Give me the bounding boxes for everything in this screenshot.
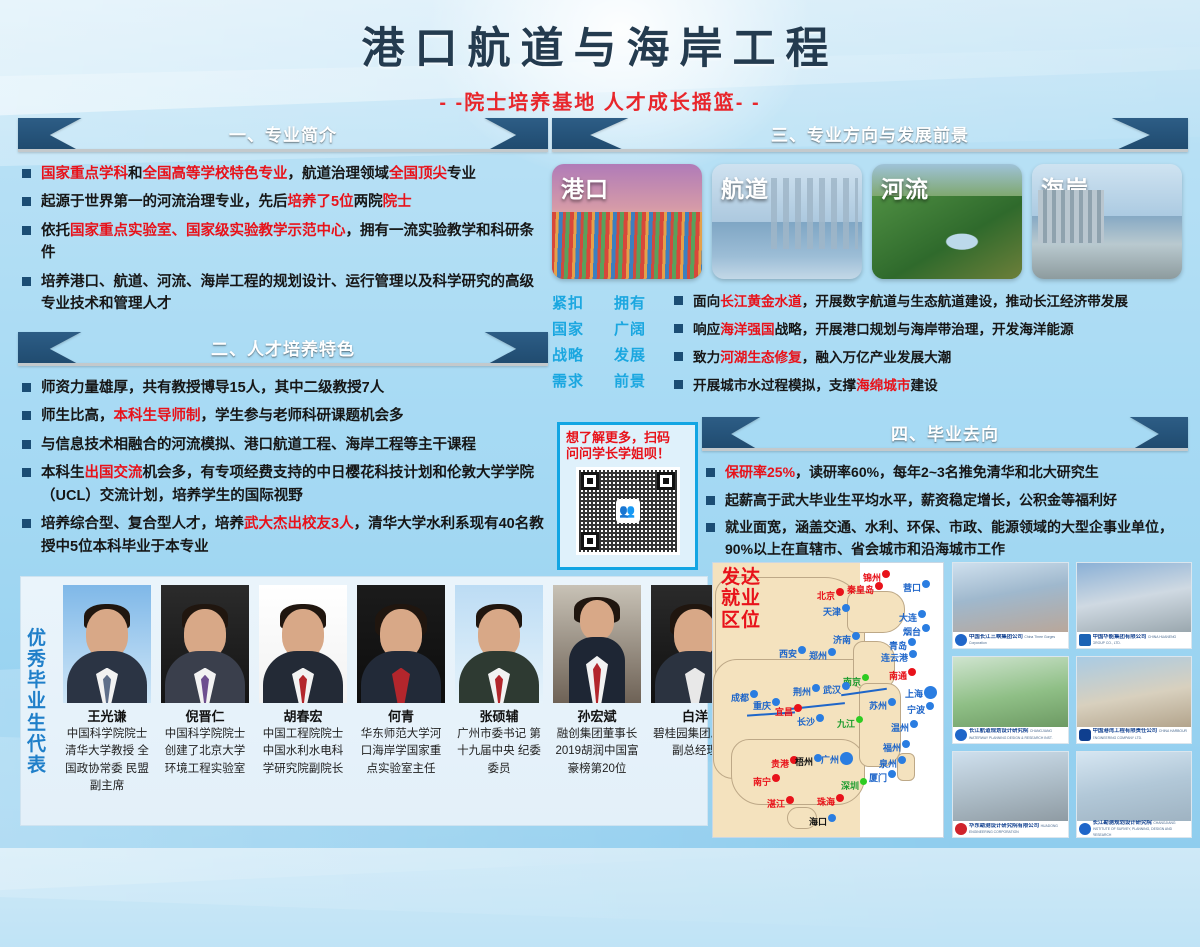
employer-card: 长江航道规划设计研究院 CHANGJIANG WATERWAY PLANNING… — [952, 656, 1069, 743]
square-bullet-icon — [22, 226, 31, 235]
list-item: 就业面宽，涵盖交通、水利、环保、市政、能源领域的大型企事业单位，90%以上在直辖… — [702, 517, 1188, 560]
map-city-dot — [860, 778, 867, 785]
alumnus-name: 孙宏斌 — [551, 706, 643, 725]
bullet-text: 起源于世界第一的河流治理专业，先后培养了5位两院院士 — [41, 191, 412, 213]
square-bullet-icon — [22, 468, 31, 477]
map-city-label: 九江 — [837, 717, 855, 730]
map-city-label: 广州 — [821, 753, 839, 766]
qr-finder-icon — [657, 472, 675, 490]
section-3: 三、专业方向与发展前景 港口 航道 河流 海岸 — [552, 118, 1188, 401]
square-bullet-icon — [22, 411, 31, 420]
qr-avatar-icon: 👥 — [616, 499, 640, 523]
list-item: 面向长江黄金水道，开展数字航道与生态航道建设，推动长江经济带发展 — [670, 289, 1188, 315]
map-city-label: 上海 — [905, 687, 923, 700]
map-city-label: 梧州 — [795, 755, 813, 768]
employment-map: 发达 就业 区位 锦州营口北京秦皇岛天津大连烟台济南青岛西安郑州连云港南通南京武… — [712, 562, 944, 838]
employer-photo — [953, 657, 1068, 726]
map-city-label: 营口 — [903, 581, 921, 594]
keyword-left: 需求 — [552, 370, 594, 391]
employer-name: 中国长江三峡集团公司 China Three Gorges Corporatio… — [969, 634, 1066, 646]
employer-card: 中国华能集团有限公司 CHINA HUANENG GROUP CO., LTD. — [1076, 562, 1193, 649]
avatar — [455, 585, 543, 703]
map-city-label: 温州 — [891, 721, 909, 734]
employer-logo-bar: 华东勘测设计研究院有限公司 HUADONG ENGINEERING CORPOR… — [953, 821, 1068, 837]
map-city-dot — [924, 686, 937, 699]
employer-photo — [1077, 752, 1192, 821]
keyword-row: 紧扣 拥有 — [552, 289, 670, 315]
alumnus-name: 王光谦 — [61, 706, 153, 725]
employer-card: 华东勘测设计研究院有限公司 HUADONG ENGINEERING CORPOR… — [952, 751, 1069, 838]
square-bullet-icon — [674, 352, 683, 361]
list-item: 开展城市水过程模拟，支撑海绵城市建设 — [670, 373, 1188, 399]
bullet-text: 与信息技术相融合的河流模拟、港口航道工程、海岸工程等主干课程 — [41, 434, 476, 456]
bullet-text: 致力河湖生态修复，融入万亿产业发展大潮 — [693, 345, 951, 371]
section-3-body: 紧扣 拥有 国家 广阔 战略 发展 需求 前景 — [552, 289, 1188, 401]
qr-promo-box[interactable]: 想了解更多，扫码 问问学长学姐呗！ 👥 — [557, 422, 698, 570]
alumnus-name: 倪晋仁 — [159, 706, 251, 725]
list-item: 孙宏斌 融创集团董事长 2019胡润中国富 豪榜第20位 — [551, 585, 643, 819]
map-city-label: 珠海 — [817, 795, 835, 808]
bullet-text: 开展城市水过程模拟，支撑海绵城市建设 — [693, 373, 938, 399]
section-2-title: 二、人才培养特色 — [18, 332, 548, 366]
keyword-right: 拥有 — [614, 292, 656, 313]
map-city-label: 济南 — [833, 633, 851, 646]
square-bullet-icon — [706, 523, 715, 532]
list-item: 师资力量雄厚，共有教授博导15人，其中二级教授7人 — [18, 377, 548, 399]
employer-name: 中国港湾工程有限责任公司 CHINA HARBOUR ENGINEERING C… — [1093, 728, 1190, 740]
section-3-banner: 三、专业方向与发展前景 — [552, 118, 1188, 152]
map-city-dot — [856, 716, 863, 723]
qr-code[interactable]: 👥 — [576, 467, 680, 555]
direction-card-waterway: 航道 — [712, 164, 862, 279]
map-city-dot — [888, 770, 896, 778]
map-city-label: 郑州 — [809, 649, 827, 662]
square-bullet-icon — [22, 383, 31, 392]
alumnus-desc: 中国科学院院士 清华大学教授 全国政协常委 民盟副主席 — [61, 726, 153, 795]
square-bullet-icon — [22, 197, 31, 206]
section-3-title: 三、专业方向与发展前景 — [552, 118, 1188, 152]
map-city-dot — [794, 704, 802, 712]
bullet-text: 本科生出国交流机会多，有专项经费支持的中日樱花科技计划和伦敦大学学院（UCL）交… — [41, 462, 548, 507]
section-4-banner: 四、毕业去向 — [702, 417, 1188, 451]
map-title-line-3: 区位 — [721, 610, 761, 631]
photo-river — [712, 222, 862, 280]
alumnus-name: 胡春宏 — [257, 706, 349, 725]
map-city-label: 福州 — [883, 741, 901, 754]
keyword-row: 国家 广阔 — [552, 315, 670, 341]
page-subtitle: - -院士培养基地 人才成长摇篮- - — [0, 86, 1200, 115]
map-city-dot — [910, 720, 918, 728]
bullet-text: 保研率25%，读研率60%，每年2~3名推免清华和北大研究生 — [725, 462, 1099, 484]
map-city-label: 南通 — [889, 669, 907, 682]
section-4-bullets: 保研率25%，读研率60%，每年2~3名推免清华和北大研究生 起薪高于武大毕业生… — [702, 462, 1188, 561]
list-item: 本科生出国交流机会多，有专项经费支持的中日樱花科技计划和伦敦大学学院（UCL）交… — [18, 462, 548, 507]
employer-logo-bar: 中国华能集团有限公司 CHINA HUANENG GROUP CO., LTD. — [1077, 632, 1192, 648]
square-bullet-icon — [674, 324, 683, 333]
page-title: 港口航道与海岸工程 — [0, 14, 1200, 76]
employer-logo-bar: 中国长江三峡集团公司 China Three Gorges Corporatio… — [953, 632, 1068, 648]
map-city-label: 海口 — [809, 815, 827, 828]
map-city-dot — [798, 646, 806, 654]
bullet-text: 国家重点学科和全国高等学校特色专业，航道治理领域全国顶尖专业 — [41, 163, 476, 185]
employer-card: 中国港湾工程有限责任公司 CHINA HARBOUR ENGINEERING C… — [1076, 656, 1193, 743]
direction-card-coast: 海岸 — [1032, 164, 1182, 279]
cisrp-logo-icon — [1079, 823, 1091, 835]
map-city-dot — [922, 624, 930, 632]
alumnus-name: 张硕辅 — [453, 706, 545, 725]
square-bullet-icon — [22, 440, 31, 449]
photo-containers — [552, 212, 702, 279]
avatar — [259, 585, 347, 703]
qr-caption-line-1: 想了解更多，扫码 — [566, 430, 689, 446]
bullet-text: 师生比高，本科生导师制，学生参与老师科研课题机会多 — [41, 405, 404, 427]
keyword-left: 紧扣 — [552, 292, 594, 313]
list-item: 王光谦 中国科学院院士 清华大学教授 全国政协常委 民盟副主席 — [61, 585, 153, 819]
map-city-dot — [842, 682, 850, 690]
portrait-head — [580, 600, 614, 640]
employer-name-cn: 华东勘测设计研究院有限公司 — [969, 823, 1039, 829]
list-item: 国家重点学科和全国高等学校特色专业，航道治理领域全国顶尖专业 — [18, 163, 548, 185]
employer-name: 华东勘测设计研究院有限公司 HUADONG ENGINEERING CORPOR… — [969, 823, 1066, 835]
square-bullet-icon — [674, 296, 683, 305]
map-city-label: 西安 — [779, 647, 797, 660]
bullet-text: 培养综合型、复合型人才，培养武大杰出校友3人，清华大学水利系现有40名教授中5位… — [41, 513, 548, 558]
employer-logo-bar: 中国港湾工程有限责任公司 CHINA HARBOUR ENGINEERING C… — [1077, 727, 1192, 743]
bullet-text: 师资力量雄厚，共有教授博导15人，其中二级教授7人 — [41, 377, 384, 399]
avatar — [63, 585, 151, 703]
map-city-dot — [902, 740, 910, 748]
employer-name: 长江勘测规划设计研究院 CHANGJIANG INSTITUTE OF SURV… — [1093, 820, 1190, 838]
bullet-text: 响应海洋强国战略，开展港口规划与海岸带治理，开发海洋能源 — [693, 317, 1074, 343]
list-item: 倪晋仁 中国科学院院士 创建了北京大学 环境工程实验室 — [159, 585, 251, 819]
map-canvas: 发达 就业 区位 锦州营口北京秦皇岛天津大连烟台济南青岛西安郑州连云港南通南京武… — [712, 562, 944, 838]
map-city-label: 大连 — [899, 611, 917, 624]
map-land-south — [731, 739, 865, 805]
direction-card-river: 河流 — [872, 164, 1022, 279]
huadong-logo-icon — [955, 823, 967, 835]
map-city-dot — [898, 756, 906, 764]
alumnus-desc: 华东师范大学河 口海岸学国家重 点实验室主任 — [355, 726, 447, 778]
direction-thumbnails: 港口 航道 河流 海岸 — [552, 164, 1188, 279]
map-title-line-2: 就业 — [721, 588, 761, 609]
list-item: 保研率25%，读研率60%，每年2~3名推免清华和北大研究生 — [702, 462, 1188, 484]
employer-logo-bar: 长江勘测规划设计研究院 CHANGJIANG INSTITUTE OF SURV… — [1077, 821, 1192, 837]
keyword-left: 国家 — [552, 318, 594, 339]
waterway-institute-logo-icon — [955, 729, 967, 741]
square-bullet-icon — [22, 519, 31, 528]
list-item: 胡春宏 中国工程院院士 中国水利水电科 学研究院副院长 — [257, 585, 349, 819]
list-item: 培养港口、航道、河流、海岸工程的规划设计、运行管理以及科学研究的高级专业技术和管… — [18, 271, 548, 316]
map-city-dot — [816, 714, 824, 722]
map-city-dot — [908, 668, 916, 676]
map-city-dot — [909, 650, 917, 658]
map-city-dot — [852, 632, 860, 640]
list-item: 张硕辅 广州市委书记 第十九届中央 纪委委员 — [453, 585, 545, 819]
map-city-label: 长沙 — [797, 715, 815, 728]
list-item: 起薪高于武大毕业生平均水平，薪资稳定增长，公积金等福利好 — [702, 490, 1188, 512]
map-city-label: 武汉 — [823, 683, 841, 696]
bullet-text: 培养港口、航道、河流、海岸工程的规划设计、运行管理以及科学研究的高级专业技术和管… — [41, 271, 548, 316]
section-3-bullets: 面向长江黄金水道，开展数字航道与生态航道建设，推动长江经济带发展 响应海洋强国战… — [670, 289, 1188, 401]
employer-name-cn: 中国华能集团有限公司 — [1093, 634, 1147, 640]
map-city-dot — [862, 674, 869, 681]
list-item: 起源于世界第一的河流治理专业，先后培养了5位两院院士 — [18, 191, 548, 213]
map-city-dot — [922, 580, 930, 588]
section-1-banner: 一、专业简介 — [18, 118, 548, 152]
alumnus-desc: 融创集团董事长 2019胡润中国富 豪榜第20位 — [551, 726, 643, 778]
employer-logos: 中国长江三峡集团公司 China Three Gorges Corporatio… — [952, 562, 1192, 838]
employer-name-cn: 长江航道规划设计研究院 — [969, 728, 1028, 734]
map-city-label: 烟台 — [903, 625, 921, 638]
employer-name-cn: 中国港湾工程有限责任公司 — [1093, 728, 1158, 734]
square-bullet-icon — [22, 277, 31, 286]
employer-name-cn: 中国长江三峡集团公司 — [969, 634, 1023, 640]
direction-label: 航道 — [721, 170, 769, 204]
keyword-right: 发展 — [614, 344, 656, 365]
alumni-side-label: 优秀毕业生代表 — [27, 585, 61, 819]
section-2: 二、人才培养特色 师资力量雄厚，共有教授博导15人，其中二级教授7人 师生比高，… — [18, 332, 548, 558]
map-city-label: 成都 — [731, 691, 749, 704]
employer-photo — [1077, 563, 1192, 632]
map-city-label: 连云港 — [881, 651, 908, 664]
map-city-dot — [786, 796, 794, 804]
alumni-panel: 优秀毕业生代表 王光谦 中国科学院院士 清华大学教授 全国政协常委 民盟副主席 — [20, 576, 708, 826]
qr-finder-icon — [581, 532, 599, 550]
bullet-text: 面向长江黄金水道，开展数字航道与生态航道建设，推动长江经济带发展 — [693, 289, 1128, 315]
direction-label: 海岸 — [1041, 170, 1089, 204]
map-city-dot — [812, 684, 820, 692]
map-city-dot — [918, 610, 926, 618]
employer-card: 中国长江三峡集团公司 China Three Gorges Corporatio… — [952, 562, 1069, 649]
map-city-dot — [836, 588, 844, 596]
avatar — [357, 585, 445, 703]
three-gorges-logo-icon — [955, 634, 967, 646]
alumnus-desc: 中国工程院院士 中国水利水电科 学研究院副院长 — [257, 726, 349, 778]
direction-label: 港口 — [561, 170, 609, 204]
keyword-row: 战略 发展 — [552, 341, 670, 367]
employer-name: 长江航道规划设计研究院 CHANGJIANG WATERWAY PLANNING… — [969, 728, 1066, 740]
map-city-label: 荆州 — [793, 685, 811, 698]
map-city-dot — [836, 794, 844, 802]
map-city-dot — [828, 648, 836, 656]
qr-caption-line-2: 问问学长学姐呗！ — [566, 446, 689, 462]
map-city-dot — [750, 690, 758, 698]
chec-logo-icon — [1079, 729, 1091, 741]
section-4: 四、毕业去向 保研率25%，读研率60%，每年2~3名推免清华和北大研究生 起薪… — [702, 417, 1188, 561]
keyword-right: 广阔 — [614, 318, 656, 339]
map-city-dot — [908, 638, 916, 646]
alumni-grid: 王光谦 中国科学院院士 清华大学教授 全国政协常委 民盟副主席 倪晋仁 中国科学… — [61, 585, 741, 819]
map-city-label: 厦门 — [869, 771, 887, 784]
alumnus-desc: 中国科学院院士 创建了北京大学 环境工程实验室 — [159, 726, 251, 778]
huaneng-logo-icon — [1079, 634, 1091, 646]
alumnus-desc: 广州市委书记 第十九届中央 纪委委员 — [453, 726, 545, 778]
keyword-right: 前景 — [614, 370, 656, 391]
section-2-banner: 二、人才培养特色 — [18, 332, 548, 366]
left-column: 一、专业简介 国家重点学科和全国高等学校特色专业，航道治理领域全国顶尖专业 起源… — [18, 118, 548, 564]
keyword-left: 战略 — [552, 344, 594, 365]
map-city-label: 南宁 — [753, 775, 771, 788]
square-bullet-icon — [674, 380, 683, 389]
list-item: 与信息技术相融合的河流模拟、港口航道工程、海岸工程等主干课程 — [18, 434, 548, 456]
map-city-dot — [842, 604, 850, 612]
section-4-title: 四、毕业去向 — [702, 417, 1188, 451]
list-item: 依托国家重点实验室、国家级实验教学示范中心，拥有一流实验教学和科研条件 — [18, 220, 548, 265]
map-city-label: 秦皇岛 — [847, 583, 874, 596]
section-1: 一、专业简介 国家重点学科和全国高等学校特色专业，航道治理领域全国顶尖专业 起源… — [18, 118, 548, 316]
bullet-text: 就业面宽，涵盖交通、水利、环保、市政、能源领域的大型企事业单位，90%以上在直辖… — [725, 517, 1188, 560]
map-city-label: 重庆 — [753, 699, 771, 712]
map-city-label: 贵港 — [771, 757, 789, 770]
map-city-label: 北京 — [817, 589, 835, 602]
map-land-liaoning — [847, 591, 905, 633]
map-city-dot — [888, 698, 896, 706]
map-title: 发达 就业 区位 — [721, 567, 761, 631]
map-city-dot — [875, 582, 883, 590]
bullet-text: 依托国家重点实验室、国家级实验教学示范中心，拥有一流实验教学和科研条件 — [41, 220, 548, 265]
alumnus-name: 何青 — [355, 706, 447, 725]
map-city-dot — [840, 752, 853, 765]
keyword-row: 需求 前景 — [552, 367, 670, 393]
list-item: 培养综合型、复合型人才，培养武大杰出校友3人，清华大学水利系现有40名教授中5位… — [18, 513, 548, 558]
avatar — [161, 585, 249, 703]
map-city-label: 天津 — [823, 605, 841, 618]
map-city-label: 深圳 — [841, 779, 859, 792]
employer-card: 长江勘测规划设计研究院 CHANGJIANG INSTITUTE OF SURV… — [1076, 751, 1193, 838]
map-city-dot — [926, 702, 934, 710]
map-city-label: 宁波 — [907, 703, 925, 716]
employer-logo-bar: 长江航道规划设计研究院 CHANGJIANG WATERWAY PLANNING… — [953, 727, 1068, 743]
direction-card-port: 港口 — [552, 164, 702, 279]
square-bullet-icon — [706, 496, 715, 505]
employer-photo — [1077, 657, 1192, 726]
employer-photo — [953, 563, 1068, 632]
map-city-dot — [828, 814, 836, 822]
section-2-bullets: 师资力量雄厚，共有教授博导15人，其中二级教授7人 师生比高，本科生导师制，学生… — [18, 377, 548, 558]
photo-coastline — [1032, 216, 1182, 279]
section-1-title: 一、专业简介 — [18, 118, 548, 152]
avatar — [553, 585, 641, 703]
employer-photo — [953, 752, 1068, 821]
employer-name-cn: 长江勘测规划设计研究院 — [1093, 820, 1152, 826]
map-title-line-1: 发达 — [721, 567, 761, 588]
square-bullet-icon — [22, 169, 31, 178]
section-1-bullets: 国家重点学科和全国高等学校特色专业，航道治理领域全国顶尖专业 起源于世界第一的河… — [18, 163, 548, 316]
map-city-label: 泉州 — [879, 757, 897, 770]
map-city-label: 湛江 — [767, 797, 785, 810]
square-bullet-icon — [706, 468, 715, 477]
map-city-dot — [772, 774, 780, 782]
map-city-label: 苏州 — [869, 699, 887, 712]
list-item: 响应海洋强国战略，开展港口规划与海岸带治理，开发海洋能源 — [670, 317, 1188, 343]
qr-finder-icon — [581, 472, 599, 490]
list-item: 何青 华东师范大学河 口海岸学国家重 点实验室主任 — [355, 585, 447, 819]
poster-header: 港口航道与海岸工程 - -院士培养基地 人才成长摇篮- - — [0, 14, 1200, 115]
list-item: 师生比高，本科生导师制，学生参与老师科研课题机会多 — [18, 405, 548, 427]
map-city-dot — [882, 570, 890, 578]
list-item: 致力河湖生态修复，融入万亿产业发展大潮 — [670, 345, 1188, 371]
bullet-text: 起薪高于武大毕业生平均水平，薪资稳定增长，公积金等福利好 — [725, 490, 1117, 512]
direction-label: 河流 — [881, 170, 929, 204]
photo-valley — [872, 196, 1022, 279]
employer-name: 中国华能集团有限公司 CHINA HUANENG GROUP CO., LTD. — [1093, 634, 1190, 646]
map-city-label: 宜昌 — [775, 705, 793, 718]
keyword-columns: 紧扣 拥有 国家 广阔 战略 发展 需求 前景 — [552, 289, 670, 401]
